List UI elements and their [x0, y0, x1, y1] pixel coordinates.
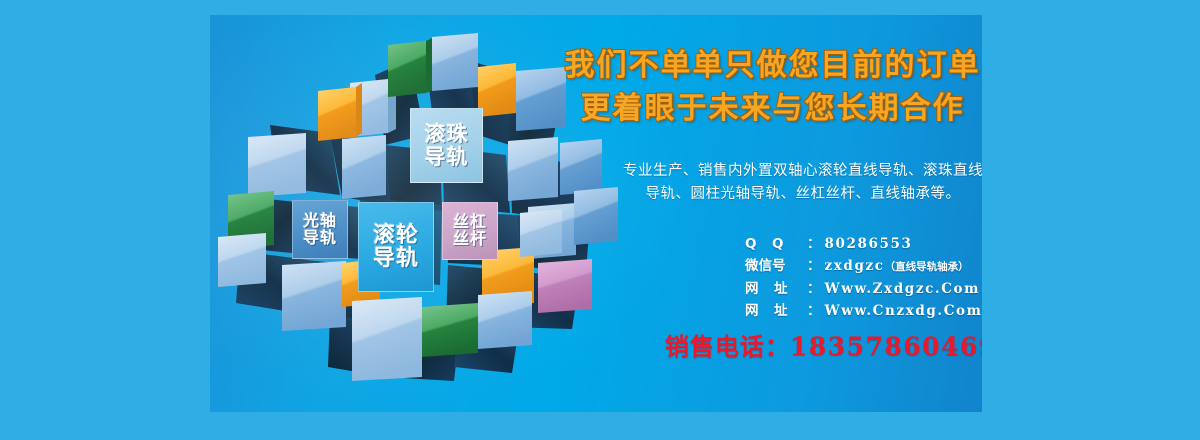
- cube-blue-top2: [432, 33, 478, 91]
- contact-key: 微信号: [745, 255, 807, 277]
- contact-row-wechat: 微信号 ： zxdgzc （直线导轨轴承）: [745, 255, 982, 277]
- product-label-gunlun-daogui: 滚轮 导轨: [358, 202, 434, 292]
- product-label-guangzhou-daogui: 光轴 导轨: [292, 200, 348, 259]
- cube-blue-ml: [248, 133, 306, 197]
- cube-blue-mid: [342, 135, 386, 199]
- cube-blue-bl: [282, 261, 346, 331]
- cube-blue-tr: [516, 67, 566, 131]
- contact-key: 网 址: [745, 300, 807, 322]
- banner-panel: 滚珠 导轨 光轴 导轨 滚轮 导轨 丝杠 丝杆 我们不单单只做您目前的订单 更着…: [210, 15, 982, 412]
- label-line-2: 导轨: [425, 146, 469, 168]
- contact-key: 网 址: [745, 278, 807, 300]
- sales-phone-label: 销售电话：: [665, 333, 790, 361]
- cube-blue-mr2: [560, 139, 602, 195]
- cube-green-bottom: [422, 303, 478, 357]
- contact-separator: ：: [807, 255, 821, 277]
- cube-blue-bottom2: [478, 291, 532, 349]
- cube-orange-tr: [478, 63, 516, 117]
- company-description: 专业生产、销售内外置双轴心滚轮直线导轨、滚珠直线导轨、圆柱光轴导轨、丝杠丝杆、直…: [622, 160, 982, 207]
- headline-line-2: 更着眼于未来与您长期合作: [560, 88, 982, 131]
- cube-blue-right-mid2: [574, 187, 618, 245]
- promo-banner: 滚珠 导轨 光轴 导轨 滚轮 导轨 丝杠 丝杆 我们不单单只做您目前的订单 更着…: [0, 0, 1200, 440]
- contact-row-website-1: 网 址 ： Www.Zxdgzc.Com: [745, 278, 982, 300]
- contact-value-wechat: zxdgzc: [825, 255, 885, 277]
- contact-separator: ：: [807, 233, 821, 255]
- cube-orange-tl: [318, 83, 362, 141]
- contact-note-wechat: （直线导轨轴承）: [885, 259, 969, 276]
- contact-row-qq: Q Q ： 80286553: [745, 233, 982, 255]
- cube-green-top: [388, 37, 434, 97]
- label-line-1: 光轴: [303, 213, 337, 230]
- label-line-2: 导轨: [373, 247, 419, 270]
- product-label-gunzhu-daogui: 滚珠 导轨: [410, 108, 483, 183]
- contact-value-website-1[interactable]: Www.Zxdgzc.Com: [825, 278, 981, 300]
- contact-row-website-2: 网 址 ： Www.Cnzxdg.Com: [745, 300, 982, 322]
- cube-blue-left-lo: [218, 233, 266, 287]
- cube-pink-br: [538, 259, 592, 313]
- label-line-2: 丝杆: [453, 231, 487, 248]
- contact-value-qq: 80286553: [825, 233, 913, 255]
- cube-blue-br-small: [520, 209, 562, 257]
- label-line-1: 滚珠: [425, 123, 469, 145]
- headline: 我们不单单只做您目前的订单 更着眼于未来与您长期合作: [560, 45, 982, 130]
- cube-blue-mr: [508, 137, 558, 201]
- label-line-2: 导轨: [303, 230, 337, 247]
- contact-separator: ：: [807, 300, 821, 322]
- headline-line-1: 我们不单单只做您目前的订单: [560, 45, 982, 88]
- cube-blue-bottom: [352, 297, 422, 381]
- contact-block: Q Q ： 80286553 微信号 ： zxdgzc （直线导轨轴承） 网 址…: [745, 233, 982, 323]
- contact-key: Q Q: [745, 233, 807, 255]
- contact-value-website-2[interactable]: Www.Cnzxdg.Com: [825, 300, 983, 322]
- contact-separator: ：: [807, 278, 821, 300]
- product-label-sigang-sigan: 丝杠 丝杆: [442, 202, 498, 260]
- label-line-1: 滚轮: [373, 224, 419, 247]
- sales-phone-number[interactable]: 18357860469: [790, 332, 982, 361]
- sales-phone: 销售电话：18357860469: [665, 327, 982, 362]
